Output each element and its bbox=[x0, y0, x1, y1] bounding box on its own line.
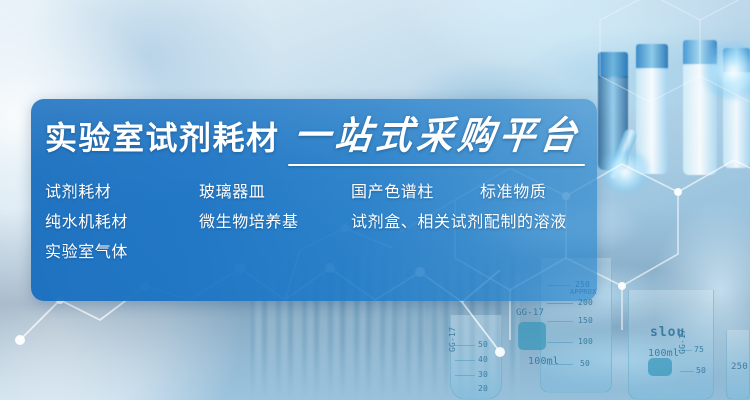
category-water-purifier-consumables[interactable]: 纯水机耗材 bbox=[45, 212, 199, 234]
flask-label-20: 20 bbox=[478, 384, 488, 393]
light-glow-left bbox=[596, 150, 654, 194]
category-domestic-chromatography-column[interactable]: 国产色谱柱 bbox=[351, 182, 434, 204]
flask-left bbox=[450, 315, 502, 400]
category-row-1: 试剂耗材 玻璃器皿 国产色谱柱 标准物质 bbox=[45, 182, 593, 212]
flask-label-30: 30 bbox=[478, 370, 488, 379]
beaker-brand-label: GG-17 bbox=[516, 308, 544, 318]
beaker-sticker bbox=[518, 322, 546, 350]
flask-label-50: 50 bbox=[478, 340, 488, 349]
promo-banner: 250 APPROX 200 150 100 50 GG-17 100ml 50… bbox=[0, 0, 750, 400]
flask-label-40: 40 bbox=[478, 355, 488, 364]
beaker-second-75: 75 bbox=[694, 345, 704, 354]
brush-title-wrapper: 一站式采购平台 bbox=[292, 119, 579, 155]
category-list: 试剂耗材 玻璃器皿 国产色谱柱 标准物质 纯水机耗材 微生物培养基 试剂盒、相关… bbox=[45, 182, 593, 272]
beaker-second-brand-side: GG-17 bbox=[678, 329, 687, 354]
category-microbial-culture-media[interactable]: 微生物培养基 bbox=[199, 212, 351, 234]
beaker-second-50: 50 bbox=[696, 366, 706, 375]
flask-brand-label: GG-17 bbox=[448, 327, 457, 352]
page-title: 实验室试剂耗材 bbox=[45, 122, 280, 154]
beaker-right-250: 250 bbox=[731, 362, 748, 372]
category-glassware[interactable]: 玻璃器皿 bbox=[199, 182, 351, 204]
beaker-label-100: 100 bbox=[578, 337, 593, 346]
category-laboratory-gases[interactable]: 实验室气体 bbox=[45, 242, 199, 264]
headline-panel: 实验室试剂耗材 一站式采购平台 试剂耗材 玻璃器皿 国产色谱柱 标准物质 纯水机… bbox=[31, 99, 597, 301]
category-row-2: 纯水机耗材 微生物培养基 试剂盒、相关试剂配制的溶液 bbox=[45, 212, 593, 242]
beaker-volume-label: 100ml bbox=[528, 356, 559, 367]
brush-title: 一站式采购平台 bbox=[292, 117, 584, 155]
title-underline bbox=[288, 164, 585, 166]
category-reference-materials[interactable]: 标准物质 bbox=[480, 182, 546, 204]
category-reagent-kits-solutions[interactable]: 试剂盒、相关试剂配制的溶液 bbox=[351, 212, 567, 234]
beaker-label-50: 50 bbox=[580, 359, 590, 368]
category-reagent-consumables[interactable]: 试剂耗材 bbox=[45, 182, 199, 204]
beaker-label-150: 150 bbox=[578, 316, 593, 325]
title-row: 实验室试剂耗材 一站式采购平台 bbox=[45, 119, 579, 155]
category-row-3: 实验室气体 bbox=[45, 242, 593, 272]
